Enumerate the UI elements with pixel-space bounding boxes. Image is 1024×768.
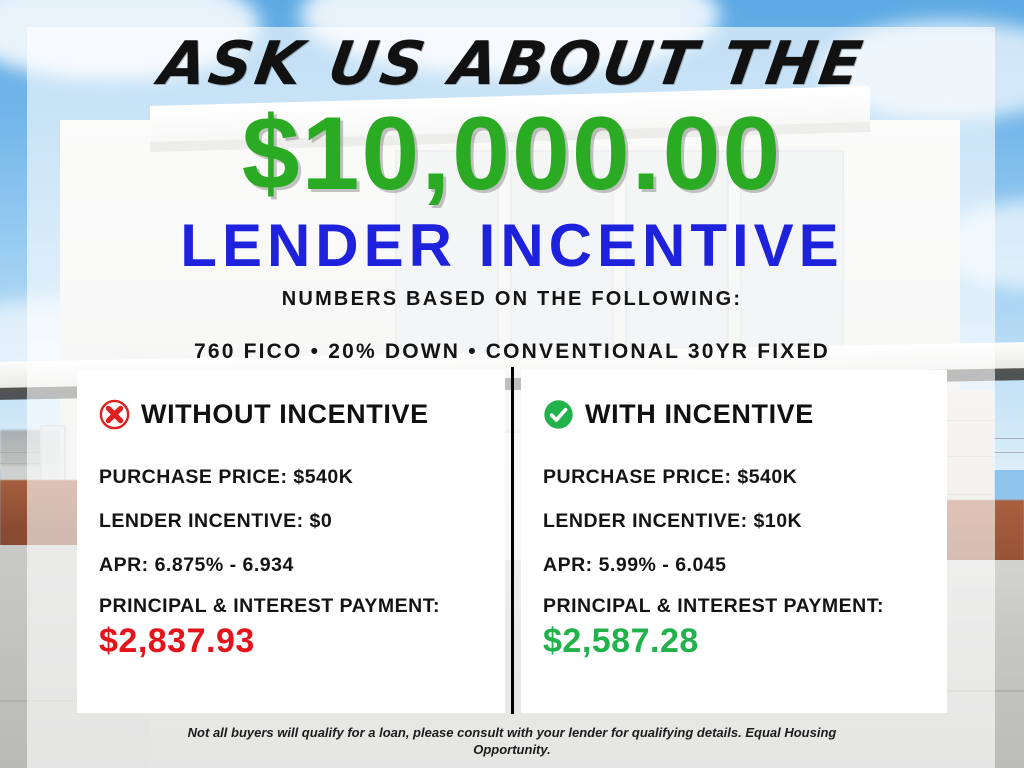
card-without-incentive: WITHOUT INCENTIVE PURCHASE PRICE: $540K … (77, 370, 505, 713)
card-with-header: WITH INCENTIVE (543, 394, 937, 434)
without-purchase-price: PURCHASE PRICE: $540K (99, 466, 497, 489)
assumptions-terms: 760 FICO • 20% DOWN • CONVENTIONAL 30YR … (0, 340, 1024, 364)
check-circle-icon (543, 399, 574, 430)
flyer-canvas: ASK US ABOUT THE $10,000.00 LENDER INCEN… (0, 0, 1024, 768)
x-circle-icon (99, 399, 130, 430)
card-without-title: WITHOUT INCENTIVE (141, 399, 429, 430)
headline-eyebrow: ASK US ABOUT THE (0, 34, 1024, 94)
card-with-incentive: WITH INCENTIVE PURCHASE PRICE: $540K LEN… (521, 370, 947, 713)
without-lender-incentive: LENDER INCENTIVE: $0 (99, 510, 497, 533)
assumptions-label: NUMBERS BASED ON THE FOLLOWING: (0, 288, 1024, 311)
without-payment-value: $2,837.93 (99, 622, 255, 661)
with-apr: APR: 5.99% - 6.045 (543, 554, 939, 577)
with-purchase-price: PURCHASE PRICE: $540K (543, 466, 939, 489)
card-divider (511, 367, 514, 714)
with-lender-incentive: LENDER INCENTIVE: $10K (543, 510, 939, 533)
incentive-amount: $10,000.00 (0, 100, 1024, 209)
without-payment-label: PRINCIPAL & INTEREST PAYMENT: (99, 595, 497, 618)
without-apr: APR: 6.875% - 6.934 (99, 554, 497, 577)
card-without-header: WITHOUT INCENTIVE (99, 394, 495, 434)
disclaimer-text: Not all buyers will qualify for a loan, … (180, 724, 844, 758)
card-with-title: WITH INCENTIVE (585, 399, 814, 430)
comparison-cards: WITHOUT INCENTIVE PURCHASE PRICE: $540K … (77, 370, 947, 713)
headline-subhead: LENDER INCENTIVE (0, 216, 1024, 276)
with-payment-value: $2,587.28 (543, 622, 699, 661)
with-payment-label: PRINCIPAL & INTEREST PAYMENT: (543, 595, 939, 618)
